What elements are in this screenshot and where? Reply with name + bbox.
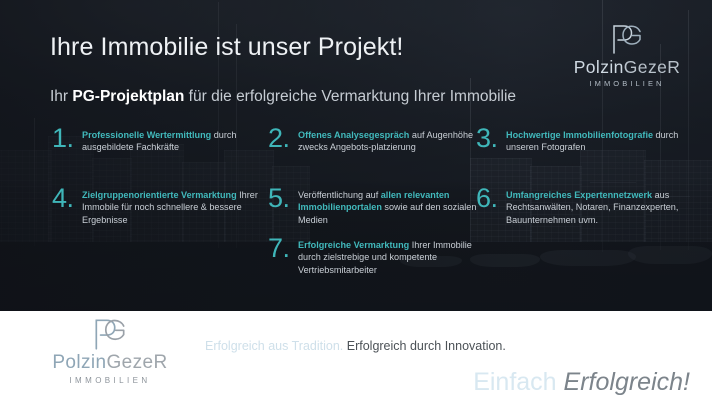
step-text: Zielgruppenorientierte Vermarktung Ihrer… [82, 186, 262, 226]
claim-erfolgreich: Erfolgreich! [564, 368, 690, 396]
subtitle-prefix: Ihr [50, 88, 72, 105]
brand-word-polzin: Polzin [574, 57, 624, 77]
footer-claim: Einfach Erfolgreich! [473, 368, 690, 397]
step-item-2: 2. Offenes Analysegespräch auf Augenhöhe… [268, 126, 478, 154]
page-subtitle: Ihr PG-Projektplan für die erfolgreiche … [50, 88, 516, 106]
step-list: 1. Professionelle Wertermittlung durch a… [0, 118, 712, 298]
step-number: 4. [52, 186, 82, 211]
claim-einfach: Einfach [473, 368, 563, 396]
step-number: 3. [476, 126, 506, 151]
step-text: Erfolgreiche Vermarktung Ihrer Immobilie… [298, 236, 478, 276]
page-title: Ihre Immobilie ist unser Projekt! [50, 33, 403, 62]
brand-word-polzin: Polzin [52, 352, 106, 373]
step-text: Offenes Analysegespräch auf Augenhöhe zw… [298, 126, 478, 154]
step-text-pre: Veröffentlichung auf [298, 190, 381, 200]
brand-word-gezer: GezeR [107, 352, 168, 373]
subtitle-suffix: für die erfolgreiche Vermarktung Ihrer I… [184, 88, 516, 105]
step-number: 7. [268, 236, 298, 261]
pg-monogram-icon [552, 22, 702, 56]
step-item-5: 5. Veröffentlichung auf allen relevanten… [268, 186, 478, 226]
step-item-7: 7. Erfolgreiche Vermarktung Ihrer Immobi… [268, 236, 478, 276]
brand-wordmark: PolzinGezeR [552, 58, 702, 76]
step-text-bold: Erfolgreiche Vermarktung [298, 240, 409, 250]
step-text-bold: Hochwertige Immobilienfotografie [506, 130, 653, 140]
brand-logo-footer: PolzinGezeR IMMOBILIEN [22, 317, 198, 385]
brand-word-gezer: GezeR [624, 57, 680, 77]
brand-subtitle: IMMOBILIEN [552, 79, 702, 88]
brand-wordmark: PolzinGezeR [22, 353, 198, 373]
step-item-1: 1. Professionelle Wertermittlung durch a… [52, 126, 262, 154]
step-number: 5. [268, 186, 298, 211]
subtitle-emphasis: PG-Projektplan [72, 88, 184, 105]
step-text-bold: Umfangreiches Expertennetzwerk [506, 190, 652, 200]
step-item-4: 4. Zielgruppenorientierte Vermarktung Ih… [52, 186, 262, 226]
step-text-bold: Zielgruppenorientierte Vermarktung [82, 190, 237, 200]
step-text: Hochwertige Immobilienfotografie durch u… [506, 126, 702, 154]
step-text: Professionelle Wertermittlung durch ausg… [82, 126, 262, 154]
hero-section: Ihre Immobilie ist unser Projekt! Ihr PG… [0, 0, 712, 311]
step-item-3: 3. Hochwertige Immobilienfotografie durc… [476, 126, 702, 154]
step-number: 6. [476, 186, 506, 211]
step-text: Veröffentlichung auf allen relevanten Im… [298, 186, 478, 226]
step-text-bold: Offenes Analysegespräch [298, 130, 409, 140]
brand-logo-header: PolzinGezeR IMMOBILIEN [552, 22, 702, 88]
tagline-innovation: Erfolgreich durch Innovation. [343, 339, 506, 353]
brand-subtitle: IMMOBILIEN [22, 376, 198, 385]
step-item-6: 6. Umfangreiches Expertennetzwerk aus Re… [476, 186, 702, 226]
tagline-tradition: Erfolgreich aus Tradition. [205, 339, 343, 353]
promo-graphic: Ihre Immobilie ist unser Projekt! Ihr PG… [0, 0, 712, 400]
step-number: 1. [52, 126, 82, 151]
step-number: 2. [268, 126, 298, 151]
footer-section: PolzinGezeR IMMOBILIEN Erfolgreich aus T… [0, 311, 712, 400]
footer-tagline: Erfolgreich aus Tradition. Erfolgreich d… [205, 339, 506, 353]
step-text-bold: Professionelle Wertermittlung [82, 130, 211, 140]
pg-monogram-icon [22, 317, 198, 351]
step-text: Umfangreiches Expertennetzwerk aus Recht… [506, 186, 702, 226]
